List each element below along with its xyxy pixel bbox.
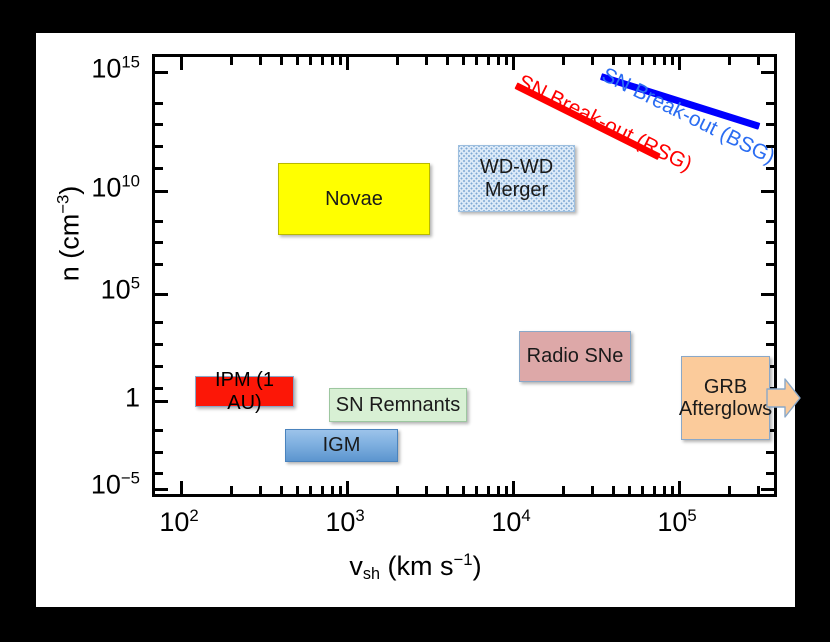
x-minor-tick <box>591 486 594 494</box>
plot-canvas: 1015 1010 105 1 10−5 102 103 104 105 vsh… <box>36 33 795 607</box>
y-major-tick <box>761 71 774 74</box>
x-minor-tick <box>446 57 449 65</box>
x-minor-tick <box>475 57 478 65</box>
x-minor-tick <box>562 57 565 65</box>
x-minor-tick <box>425 486 428 494</box>
region-label-wdwd-line2: Merger <box>485 179 548 201</box>
x-axis-title: vsh (km s−1) <box>36 551 795 582</box>
region-label-grb-line1: GRB <box>704 376 747 398</box>
x-minor-tick <box>331 486 334 494</box>
x-tick-label-1e5: 105 <box>657 507 696 538</box>
region-box-novae[interactable]: Novae <box>278 163 430 235</box>
x-major-tick <box>346 57 349 70</box>
y-tick-label-1: 1 <box>125 383 140 414</box>
x-minor-tick <box>230 486 233 494</box>
x-axis-tick-labels: 102 103 104 105 <box>36 507 795 547</box>
x-minor-tick <box>396 57 399 65</box>
region-box-radio-sne[interactable]: Radio SNe <box>519 331 631 382</box>
region-box-sn-remnants[interactable]: SN Remnants <box>329 388 467 422</box>
x-tick-label-1e4: 104 <box>491 507 530 538</box>
x-minor-tick <box>641 57 644 65</box>
x-minor-tick <box>628 57 631 65</box>
y-minor-tick <box>155 387 163 390</box>
x-minor-tick <box>309 57 312 65</box>
x-minor-tick <box>671 57 674 65</box>
x-minor-tick <box>663 57 666 65</box>
y-tick-label-1e5: 105 <box>101 275 140 306</box>
x-minor-tick <box>309 486 312 494</box>
y-major-tick <box>155 190 168 193</box>
y-major-tick <box>155 71 168 74</box>
x-minor-tick <box>612 57 615 65</box>
x-minor-tick <box>321 486 324 494</box>
y-axis-title: n (cm−3) <box>55 104 86 364</box>
x-minor-tick <box>497 486 500 494</box>
y-minor-tick <box>766 451 774 454</box>
x-minor-tick <box>497 57 500 65</box>
x-minor-tick <box>505 57 508 65</box>
y-minor-tick <box>155 145 163 148</box>
y-minor-tick <box>766 102 774 105</box>
y-minor-tick <box>155 429 163 432</box>
x-major-tick <box>678 57 681 70</box>
x-minor-tick <box>487 57 490 65</box>
x-minor-tick <box>728 57 731 65</box>
y-tick-label-1e15: 1015 <box>91 54 140 85</box>
x-minor-tick <box>462 57 465 65</box>
y-major-tick <box>155 293 168 296</box>
x-minor-tick <box>339 57 342 65</box>
x-minor-tick <box>331 57 334 65</box>
x-minor-tick <box>757 486 760 494</box>
y-minor-tick <box>155 123 163 126</box>
region-label-grb-line2: Afterglows <box>679 398 772 420</box>
x-major-tick <box>678 481 681 494</box>
y-minor-tick <box>766 241 774 244</box>
region-box-igm[interactable]: IGM <box>285 429 398 462</box>
x-major-tick <box>180 481 183 494</box>
x-minor-tick <box>321 57 324 65</box>
x-minor-tick <box>653 486 656 494</box>
region-label-snr: SN Remnants <box>336 394 461 416</box>
x-minor-tick <box>425 57 428 65</box>
x-minor-tick <box>562 486 565 494</box>
x-minor-tick <box>280 57 283 65</box>
x-minor-tick <box>396 486 399 494</box>
y-major-tick <box>761 488 774 491</box>
x-minor-tick <box>487 486 490 494</box>
x-minor-tick <box>259 486 262 494</box>
y-major-tick <box>761 293 774 296</box>
x-major-tick <box>180 57 183 70</box>
x-minor-tick <box>296 57 299 65</box>
x-minor-tick <box>728 486 731 494</box>
x-minor-tick <box>591 57 594 65</box>
x-minor-tick <box>280 486 283 494</box>
y-minor-tick <box>155 241 163 244</box>
x-minor-tick <box>653 57 656 65</box>
x-minor-tick <box>612 486 615 494</box>
y-minor-tick <box>155 321 163 324</box>
y-minor-tick <box>155 220 163 223</box>
region-label-ipm: IPM (1 AU) <box>196 369 293 414</box>
y-minor-tick <box>766 321 774 324</box>
region-label-wdwd-line1: WD-WD <box>480 156 553 178</box>
y-minor-tick <box>766 263 774 266</box>
y-minor-tick <box>155 102 163 105</box>
y-minor-tick <box>766 472 774 475</box>
x-tick-label-1e2: 102 <box>159 507 198 538</box>
x-minor-tick <box>663 486 666 494</box>
x-minor-tick <box>757 57 760 65</box>
x-major-tick <box>512 57 515 70</box>
y-tick-label-1e-5: 10−5 <box>91 470 140 501</box>
y-minor-tick <box>155 167 163 170</box>
x-minor-tick <box>505 486 508 494</box>
x-minor-tick <box>462 486 465 494</box>
x-minor-tick <box>339 486 342 494</box>
x-minor-tick <box>475 486 478 494</box>
region-box-wd-wd-merger[interactable]: WD-WD Merger <box>458 145 575 212</box>
y-minor-tick <box>155 472 163 475</box>
y-minor-tick <box>766 220 774 223</box>
figure-root: 1015 1010 105 1 10−5 102 103 104 105 vsh… <box>0 0 830 642</box>
region-label-igm: IGM <box>323 434 361 456</box>
y-minor-tick <box>155 263 163 266</box>
x-minor-tick <box>296 486 299 494</box>
y-major-tick <box>155 488 168 491</box>
y-minor-tick <box>155 343 163 346</box>
region-label-radio-sne: Radio SNe <box>527 345 624 367</box>
x-minor-tick <box>230 57 233 65</box>
region-label-novae: Novae <box>325 188 383 210</box>
x-minor-tick <box>671 486 674 494</box>
y-minor-tick <box>766 123 774 126</box>
x-tick-label-1e3: 103 <box>325 507 364 538</box>
y-minor-tick <box>155 451 163 454</box>
region-box-ipm[interactable]: IPM (1 AU) <box>195 376 294 407</box>
x-minor-tick <box>259 57 262 65</box>
region-box-grb-afterglows[interactable]: GRB Afterglows <box>681 356 770 440</box>
x-minor-tick <box>641 486 644 494</box>
y-minor-tick <box>155 365 163 368</box>
x-major-tick <box>512 481 515 494</box>
y-major-tick <box>761 190 774 193</box>
x-major-tick <box>346 481 349 494</box>
x-minor-tick <box>446 486 449 494</box>
y-minor-tick <box>766 343 774 346</box>
x-minor-tick <box>628 486 631 494</box>
y-tick-label-1e10: 1010 <box>91 173 140 204</box>
y-major-tick <box>155 400 168 403</box>
